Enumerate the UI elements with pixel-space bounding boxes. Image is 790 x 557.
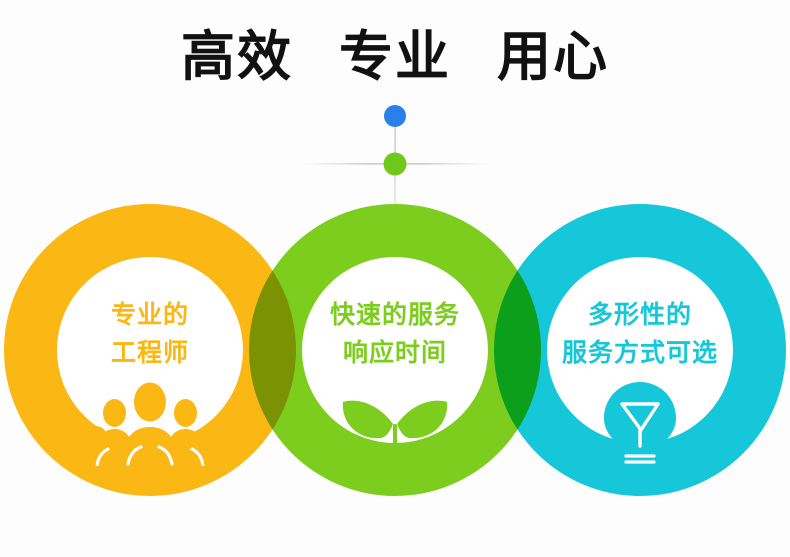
people-group-icon — [88, 380, 212, 466]
card-label-line1: 快速的服务 — [330, 300, 460, 329]
card-label-line1: 多形性的 — [588, 300, 692, 329]
card-flexible-service-options[interactable]: 多形性的 服务方式可选 — [494, 204, 786, 496]
card-label-line2: 服务方式可选 — [494, 334, 786, 372]
card-label-line1: 专业的 — [111, 300, 189, 329]
infographic-canvas: 高效专业用心 专业的 — [0, 0, 790, 557]
card-label-flexible-service-options: 多形性的 服务方式可选 — [494, 296, 786, 372]
sprout-icon — [333, 380, 457, 466]
lightbulb-icon — [578, 380, 702, 466]
